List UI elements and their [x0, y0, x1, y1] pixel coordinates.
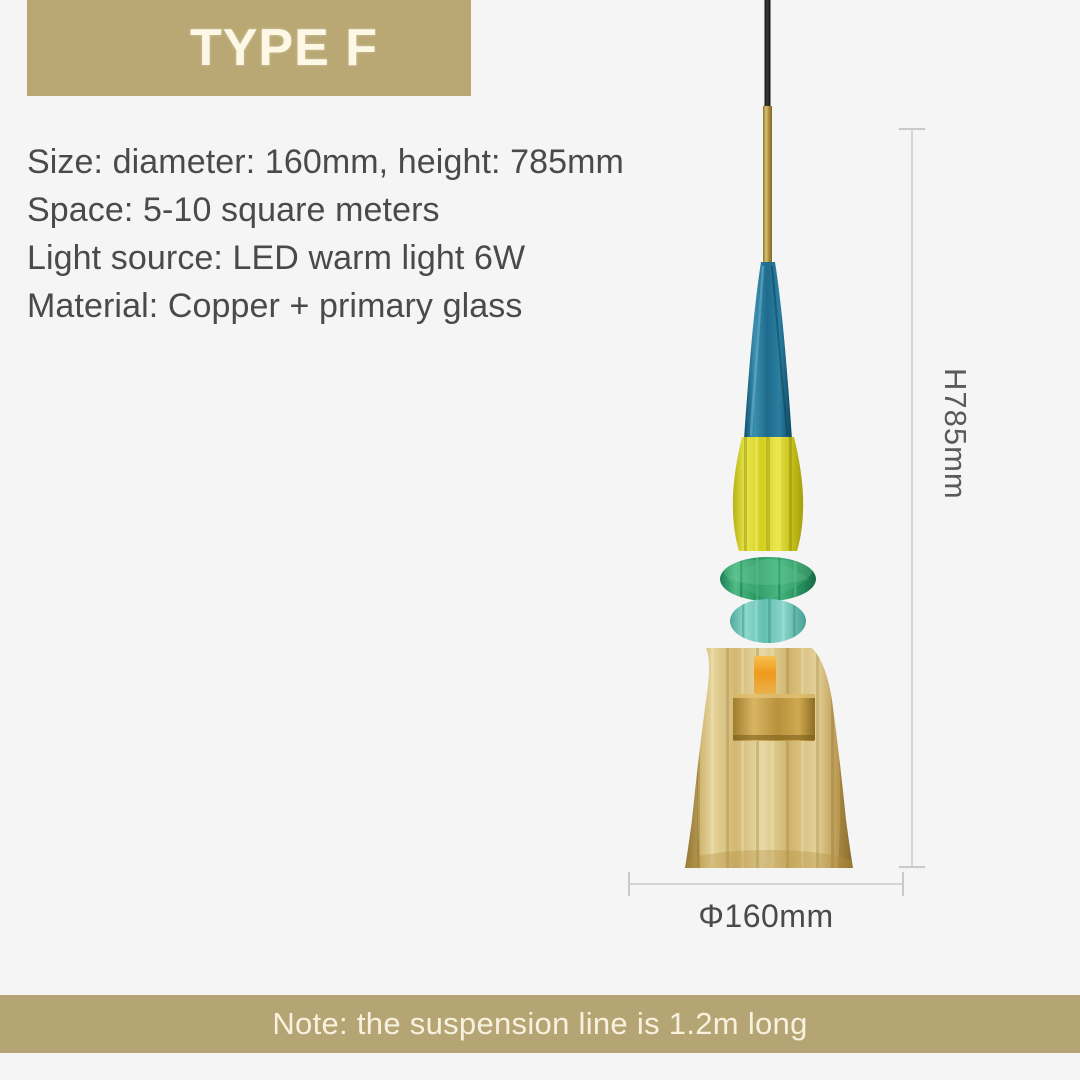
led-glow: [754, 656, 776, 694]
yellow-glass-bead: [733, 437, 803, 551]
spec-line-light-source: Light source: LED warm light 6W: [27, 234, 787, 282]
product-spec-card: TYPE F Size: diameter: 160mm, height: 78…: [0, 0, 1080, 1080]
dimension-height-label: H785mm: [937, 368, 973, 468]
spec-line-space: Space: 5-10 square meters: [27, 186, 787, 234]
spec-line-material: Material: Copper + primary glass: [27, 282, 787, 330]
dimension-diameter-tick-left: [628, 872, 630, 896]
dimension-diameter-line: [628, 883, 904, 885]
dimension-height-tick-top: [899, 128, 925, 130]
note-bar-label: Note: the suspension line is 1.2m long: [272, 1006, 807, 1042]
note-bar: Note: the suspension line is 1.2m long: [0, 995, 1080, 1053]
suspension-cord: [765, 0, 771, 112]
dimension-height-tick-bottom: [899, 866, 925, 868]
amber-bell-shade: [685, 648, 853, 868]
spec-line-size: Size: diameter: 160mm, height: 785mm: [27, 138, 787, 186]
dimension-diameter-tick-right: [902, 872, 904, 896]
teal-glass-sphere: [730, 599, 806, 643]
dimension-height-line: [911, 128, 913, 868]
type-badge: TYPE F: [27, 0, 471, 96]
dimension-diameter-label: Φ160mm: [628, 898, 904, 935]
spec-list: Size: diameter: 160mm, height: 785mm Spa…: [27, 138, 787, 330]
green-glass-disc: [720, 557, 816, 601]
type-badge-label: TYPE F: [190, 22, 378, 74]
led-module: [733, 694, 815, 741]
